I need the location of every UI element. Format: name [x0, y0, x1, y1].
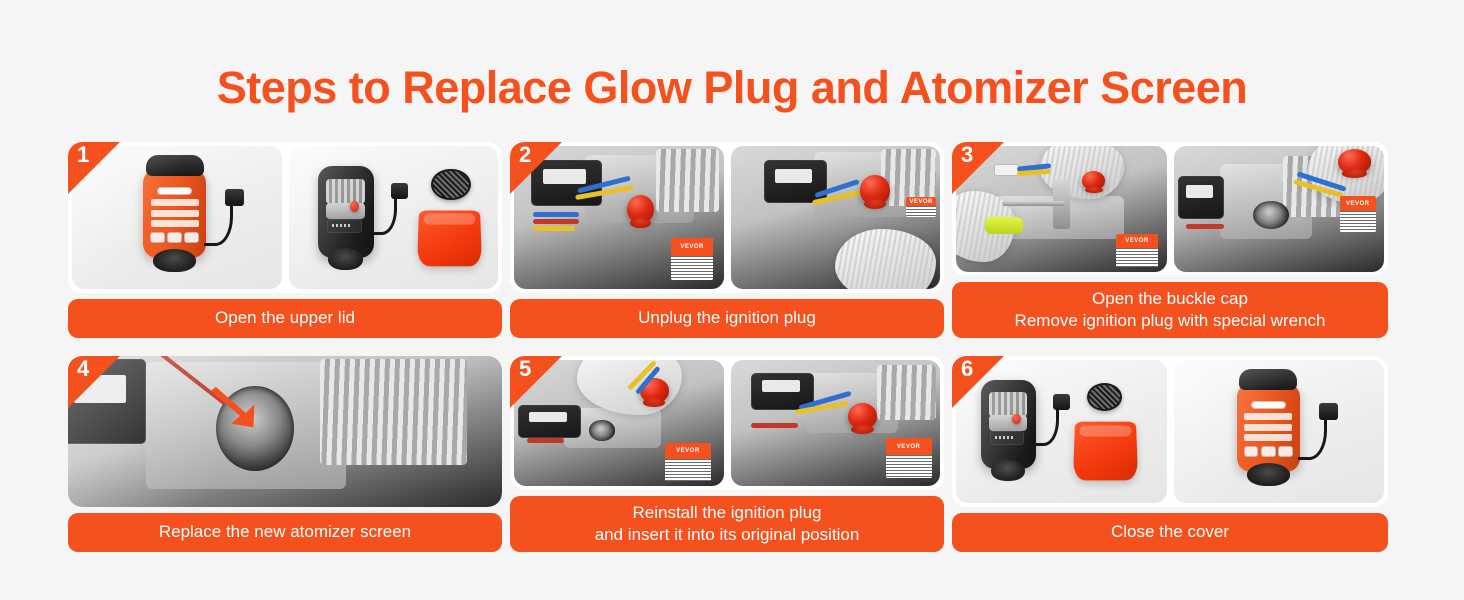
- caption-line-2: and insert it into its original position: [518, 524, 936, 546]
- wrench-bar: [1002, 201, 1065, 206]
- cooling-fins: [320, 359, 468, 465]
- vevor-spec-lines: [1340, 211, 1376, 231]
- step-1-caption: Open the upper lid: [68, 299, 502, 338]
- step-5-image-card: 5 VEVOR: [510, 356, 944, 490]
- heater-label-strip: [151, 199, 199, 206]
- caption-line-1: Replace the new atomizer screen: [159, 522, 411, 541]
- cooling-fins: [656, 149, 719, 212]
- step-2-image-card: 2 VEVOR: [510, 142, 944, 293]
- orange-arrow-icon: [198, 383, 276, 431]
- heater-control-box: [327, 219, 362, 233]
- step-3-photo-2: VEVOR: [1174, 146, 1385, 272]
- vevor-label: VEVOR: [1116, 234, 1158, 267]
- vevor-brand-text: VEVOR: [886, 438, 932, 455]
- ignition-plug-red-cap: [1338, 149, 1372, 174]
- heater-label-strip: [151, 220, 199, 227]
- red-wire: [1186, 224, 1224, 229]
- heater-unit-assembled: [1237, 383, 1300, 472]
- step-5-photo-1: VEVOR: [514, 360, 724, 486]
- heater-button-row: [150, 232, 199, 244]
- heater-brand-label: [157, 187, 192, 195]
- step-2-caption: Unplug the ignition plug: [510, 299, 944, 338]
- heater-button-row: [1244, 446, 1293, 458]
- step-5-caption: Reinstall the ignition plug and insert i…: [510, 496, 944, 552]
- control-unit-box: [68, 359, 146, 444]
- caption-line-1: Open the upper lid: [215, 308, 355, 327]
- vevor-spec-lines: [665, 459, 711, 481]
- vevor-label: VEVOR: [906, 197, 935, 217]
- infographic-page: Steps to Replace Glow Plug and Atomizer …: [0, 0, 1464, 600]
- step-panel-3: 3 VEVOR: [952, 142, 1388, 338]
- step-6-photo-1: [956, 360, 1167, 503]
- step-3-image-card: 3 VEVOR: [952, 142, 1388, 276]
- step-panel-6: 6: [952, 356, 1388, 552]
- step-4-caption: Replace the new atomizer screen: [68, 513, 502, 552]
- ignition-plug-red-cap: [860, 175, 889, 205]
- step-2-photo-2: VEVOR: [731, 146, 941, 289]
- vevor-label: VEVOR: [886, 438, 932, 478]
- gloved-hand: [835, 229, 936, 289]
- vevor-brand-text: VEVOR: [665, 443, 711, 459]
- page-title: Steps to Replace Glow Plug and Atomizer …: [0, 62, 1464, 114]
- step-6-image-card: 6: [952, 356, 1388, 507]
- heater-connector-plug: [1053, 394, 1070, 410]
- heater-blower-housing: [153, 249, 196, 272]
- step-1-image-card: 1: [68, 142, 502, 293]
- vevor-spec-lines: [906, 206, 935, 218]
- heater-label-strip: [1244, 424, 1292, 431]
- vevor-spec-lines: [671, 256, 713, 281]
- step-6-photo-2: [1174, 360, 1385, 503]
- control-unit-box: [1178, 176, 1224, 219]
- step-3-caption: Open the buckle cap Remove ignition plug…: [952, 282, 1388, 338]
- vevor-spec-lines: [886, 455, 932, 478]
- heater-connector-plug: [225, 189, 244, 206]
- ignition-plug-red-cap: [350, 201, 359, 212]
- red-wire: [751, 423, 797, 428]
- heater-unit-assembled: [143, 169, 206, 258]
- ignition-plug-red-cap: [1082, 171, 1105, 190]
- yellow-wire: [533, 226, 575, 231]
- heater-heat-exchanger-fins: [989, 392, 1027, 417]
- atomizer-screen-mesh: [431, 169, 471, 200]
- step-panel-2: 2 VEVOR: [510, 142, 944, 338]
- caption-line-1: Close the cover: [1111, 522, 1229, 541]
- heater-aluminium-block: [989, 415, 1027, 431]
- heater-unit-opened: [318, 166, 375, 258]
- vevor-label: VEVOR: [665, 443, 711, 481]
- heater-top-cap: [1239, 369, 1297, 390]
- heater-blower-housing: [991, 460, 1025, 481]
- step-1-photo-2: [289, 146, 499, 289]
- blue-wire: [533, 212, 579, 217]
- heater-connector-plug: [391, 183, 408, 199]
- glow-plug-bore: [589, 420, 614, 440]
- caption-line-2: Remove ignition plug with special wrench: [960, 310, 1380, 332]
- heater-brand-label: [1251, 401, 1286, 409]
- step-panel-4: 4 Replace the new atomizer screen: [68, 356, 502, 552]
- heater-heat-exchanger-fins: [326, 179, 366, 205]
- heater-label-strip: [1244, 413, 1292, 420]
- heater-blower-housing: [1247, 463, 1290, 486]
- vevor-brand-text: VEVOR: [906, 197, 935, 205]
- control-unit-box: [531, 160, 602, 206]
- cooling-fins: [877, 365, 936, 420]
- orange-upper-lid: [1073, 422, 1138, 481]
- caption-line-1: Unplug the ignition plug: [638, 308, 816, 327]
- red-wire: [527, 438, 565, 443]
- red-wire: [533, 219, 579, 224]
- vevor-brand-text: VEVOR: [671, 238, 713, 256]
- yellow-tool-grip: [985, 217, 1023, 235]
- step-panel-1: 1: [68, 142, 502, 338]
- heater-aluminium-block: [326, 203, 366, 219]
- heater-connector-plug: [1319, 403, 1338, 420]
- steps-grid: 1: [68, 142, 1388, 552]
- atomizer-screen-mesh: [1087, 383, 1123, 412]
- ignition-plug-red-cap: [848, 403, 877, 429]
- step-1-photo-1: [72, 146, 282, 289]
- vevor-label: VEVOR: [1340, 196, 1376, 231]
- step-panel-5: 5 VEVOR: [510, 356, 944, 552]
- step-3-photo-1: VEVOR: [956, 146, 1167, 272]
- heater-label-strip: [151, 210, 199, 217]
- caption-line-1: Open the buckle cap: [1092, 289, 1248, 308]
- heater-control-box: [990, 431, 1024, 444]
- vevor-label: VEVOR: [671, 238, 713, 281]
- control-unit-box: [518, 405, 581, 438]
- vevor-spec-lines: [1116, 248, 1158, 267]
- step-5-photo-2: VEVOR: [731, 360, 941, 486]
- vevor-brand-text: VEVOR: [1116, 234, 1158, 248]
- caption-line-1: Reinstall the ignition plug: [632, 503, 821, 522]
- step-6-caption: Close the cover: [952, 513, 1388, 552]
- white-connector: [994, 164, 1019, 177]
- step-4-image-card: 4: [68, 356, 502, 507]
- heater-top-cap: [146, 155, 204, 176]
- vevor-brand-text: VEVOR: [1340, 196, 1376, 211]
- step-2-photo-1: VEVOR: [514, 146, 724, 289]
- ignition-plug-red-cap: [627, 195, 654, 224]
- orange-upper-lid: [417, 210, 482, 266]
- heater-blower-housing: [328, 248, 363, 270]
- step-4-photo-1: [68, 356, 502, 507]
- heater-unit-opened: [981, 380, 1036, 469]
- heater-label-strip: [1244, 434, 1292, 441]
